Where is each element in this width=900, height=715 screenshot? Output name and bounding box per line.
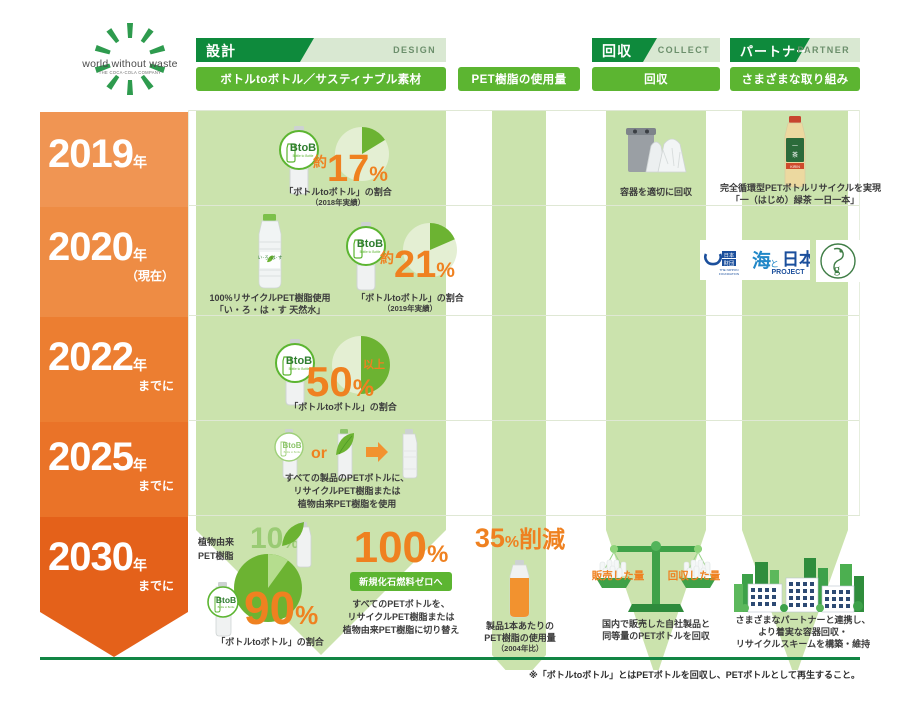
category-banner: パートナー PARTNER [730,38,860,62]
svg-text:Bottle to Bottle: Bottle to Bottle [293,154,314,158]
svg-text:い･ろ･は･す: い･ろ･は･す [258,254,283,261]
year-suffix: 年 [133,457,147,473]
category-en-label: PARTNER [797,45,850,55]
bin-bags-icon [606,120,706,190]
svg-text:BtoB: BtoB [282,441,301,450]
cell-2030-collect: 販売した量 回収した量 国内で販売した自社製品と 同等量のPETボトルを回収 [592,530,720,640]
year-suffix: 年 [133,557,147,573]
main-percent-wrap: 90% [244,588,318,629]
svg-text:茶: 茶 [792,151,798,159]
reduction-wrap: 35%削減 [462,526,578,552]
arrow-right-icon [366,442,388,462]
year-2025: 2025年 までに [40,422,188,517]
logo: world without waste THE COCA-COLA COMPAN… [74,18,186,104]
main-percent-unit: % [295,600,318,630]
caption-line-3: リサイクルスキームを構築・維持 [716,638,890,651]
svg-text:海: 海 [752,249,771,272]
svg-text:Bottle to Bottle: Bottle to Bottle [360,250,381,254]
svg-text:日本: 日本 [782,249,810,269]
category-pill[interactable]: PET樹脂の使用量 [458,67,580,91]
scale-right-label: 回収した量 [666,572,722,581]
cell-2022-design: BtoB Bottle to Bottle 50% 以上 「ボトルtoボトル」の… [258,335,428,415]
caption-line-1: 「ボトルtoボトル」の割合 [253,401,433,414]
category-en-label: DESIGN [393,45,436,55]
percent-value-wrap: 約21% [380,248,455,282]
cell-2030-partner: さまざまなパートナーと連携し、 より着実な容器回収・ リサイクルスキームを構築・… [728,540,878,650]
category-pet-usage[interactable]: PET樹脂の使用量 [458,38,580,91]
main-percent-number: 100 [354,523,427,572]
category-pill[interactable]: さまざまな取り組み [730,67,860,91]
svg-text:PROJECT: PROJECT [771,269,805,276]
category-jp-label: 設計 [206,41,236,61]
grid-edge [859,110,860,515]
year-note: までに [48,480,188,492]
svg-text:Bottle to Bottle: Bottle to Bottle [284,450,301,454]
cell-2030-design-100: 100% 新規化石燃料ゼロへ すべてのPETボトルを、 リサイクルPET樹脂また… [336,528,466,638]
svg-text:と: と [770,259,779,269]
btob-bottle-icon: BtoB Bottle to Bottle [208,582,238,636]
caption-line-2: 同等量のPETボトルを回収 [574,630,738,643]
cell-2019-collect: 容器を適切に回収 [606,120,706,200]
baseline-rule [40,657,860,660]
caption-line-2: リサイクルPET樹脂または [262,485,432,498]
approx-label: 約 [313,154,327,170]
svg-text:FOUNDATION: FOUNDATION [719,272,739,276]
percent-number: 21 [394,244,436,286]
svg-text:一: 一 [792,144,798,150]
btob-bottle-icon: BtoB Bottle to Bottle [275,429,303,478]
percent-unit: % [436,259,455,282]
g-mark-logo: g [816,240,860,282]
svg-text:日本: 日本 [724,251,734,259]
reduction-unit: % [505,534,519,551]
logo-subtitle: THE COCA-COLA COMPANY [74,70,186,75]
year-2020: 2020年 （現在） [40,207,188,317]
category-partner[interactable]: パートナー PARTNER さまざまな取り組み [730,38,860,91]
main-percent-number: 90 [244,582,295,634]
year-number: 2020 [48,225,133,269]
svg-text:財団: 財団 [724,259,734,267]
cell-2030-design-ratio: 植物由来 PET樹脂 10% BtoB Bottle to Bottle 90%… [196,520,344,645]
year-note: （現在） [48,270,188,282]
percent-value-wrap: 約17% [313,152,388,186]
reduction-number: 35 [475,523,505,553]
caption-line-2: （2019年実績） [330,304,490,315]
umi-to-nippon-logo-icon: 日本 財団 THE NIPPON FOUNDATION 海 と 日本 PROJE… [700,240,810,280]
plant-bottle-icon [336,429,354,478]
percent-number: 17 [327,148,369,190]
category-banner: 設計 DESIGN [196,38,446,62]
year-axis: 2019年 2020年 （現在） 2022年 までに 2025年 までに 203… [40,112,190,672]
highlight-pill: 新規化石燃料ゼロへ [350,572,452,591]
caption-line-1: 「ボトルtoボトル」の割合 [196,636,344,649]
category-pill[interactable]: ボトルtoボトル／サスティナブル素材 [196,67,446,91]
cell-2030-pet-usage: 35%削減 製品1本あたりの PET樹脂の使用量 （2004年比） [462,526,578,644]
svg-text:KIRIN: KIRIN [790,165,800,169]
ilohas-bottle-icon: い･ろ･は･す [212,212,327,290]
year-2019: 2019年 [40,112,188,207]
caption-line-3: （2004年比） [450,644,590,655]
year-note: までに [48,580,188,592]
row-divider [188,110,860,111]
umi-to-nippon-logo: 日本 財団 THE NIPPON FOUNDATION 海 と 日本 PROJE… [700,240,810,280]
cell-2025-design: BtoB Bottle to Bottle or すべての製品のPETボトルに、… [262,425,432,503]
caption-line-3: 植物由来PET樹脂を使用 [262,498,432,511]
year-suffix: 年 [133,357,147,373]
orange-bottle-icon [462,558,578,620]
category-design[interactable]: 設計 DESIGN ボトルtoボトル／サスティナブル素材 [196,38,446,91]
g-mark-logo-icon: g [816,240,860,282]
reduction-suffix: 削減 [519,526,565,552]
percent-unit: % [369,163,388,186]
caption-line-1: すべてのPETボトルを、 [324,598,478,611]
year-number: 2019 [48,132,133,176]
cell-2019-partner: 一 茶 KIRIN 完全循環型PETボトルリサイクルを実現 「一（はじめ）緑茶 … [742,112,848,202]
svg-text:Bottle to Bottle: Bottle to Bottle [218,605,235,609]
category-collect[interactable]: 回収 COLLECT 回収 [592,38,720,91]
green-tea-bottle-icon: 一 茶 KIRIN [742,112,848,190]
category-en-label: COLLECT [658,45,710,55]
or-label: or [311,445,327,462]
year-number: 2025 [48,435,133,479]
approx-label: 約 [380,250,394,266]
cell-2020-design-ilohas: い･ろ･は･す 100%リサイクルPET樹脂使用 「い・ろ・は・す 天然水」 [212,212,327,307]
over-label: 以上 [363,361,385,371]
year-2022: 2022年 までに [40,317,188,422]
percent-number: 50 [306,358,353,405]
result-bottle-icon [403,429,417,478]
year-suffix: 年 [133,154,147,170]
percent-unit: % [353,375,374,402]
row-divider [188,515,860,516]
highlight-pill-wrap: 新規化石燃料ゼロへ [336,572,466,591]
year-number: 2022 [48,335,133,379]
caption-line-2: 「一（はじめ）緑茶 一日一本」 [720,194,870,207]
logo-title: world without waste [74,58,186,70]
year-number: 2030 [48,535,133,579]
scale-left-label: 販売した量 [590,572,646,581]
svg-text:g: g [834,261,841,276]
category-pill[interactable]: 回収 [592,67,720,91]
year-2030: 2030年 までに [40,517,188,657]
main-percent-unit: % [427,541,448,568]
cityscape-icon [728,540,878,616]
cell-2020-partner: 日本 財団 THE NIPPON FOUNDATION 海 と 日本 PROJE… [700,240,860,286]
cell-2019-design: BtoB Bottle to Bottle 約17% 「ボトルtoボトル」の割合… [258,118,418,198]
main-percent-wrap: 100% [336,528,466,568]
caption-line-1: 容器を適切に回収 [596,186,716,199]
caption-line-1: すべての製品のPETボトルに、 [262,472,432,485]
svg-text:BtoB: BtoB [216,595,236,605]
year-suffix: 年 [133,247,147,263]
caption-line-2: 「い・ろ・は・す 天然水」 [190,304,350,317]
cell-2020-design-btob: BtoB Bottle to Bottle 約21% 「ボトルtoボトル」の割合… [330,218,490,308]
year-note: までに [48,380,188,392]
footnote: ※「ボトルtoボトル」とはPETボトルを回収し、PETボトルとして再生すること。 [0,668,900,681]
category-jp-label: 回収 [602,41,632,61]
category-banner: 回収 COLLECT [592,38,720,62]
row-divider [188,420,860,421]
caption-line-2: （2018年実績） [258,198,418,209]
